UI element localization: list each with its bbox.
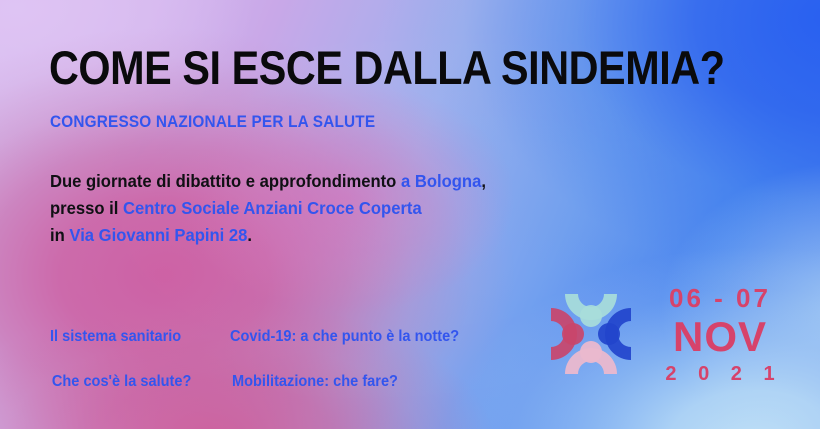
body-line-3-text: in: [50, 225, 69, 245]
topic-row: Il sistema sanitario Covid-19: a che pun…: [50, 328, 520, 373]
event-date-block: 06 - 07 NOV 2 0 2 1: [655, 283, 785, 386]
body-line-3: in Via Giovanni Papini 28.: [50, 222, 486, 249]
body-line-2-accent: Centro Sociale Anziani Croce Coperta: [123, 198, 422, 218]
event-date-month: NOV: [655, 314, 785, 360]
poster-body-copy: Due giornate di dibattito e approfondime…: [50, 168, 486, 249]
topic-item-sistema-sanitario[interactable]: Il sistema sanitario: [50, 328, 219, 346]
body-line-2-text: presso il: [50, 198, 123, 218]
topic-row: Che cos'è la salute? Mobilitazione: che …: [50, 373, 520, 418]
body-line-1: Due giornate di dibattito e approfondime…: [50, 168, 486, 195]
topic-list: Il sistema sanitario Covid-19: a che pun…: [50, 328, 520, 418]
topic-item-mobilitazione[interactable]: Mobilitazione: che fare?: [232, 373, 495, 391]
body-line-1-tail: ,: [481, 171, 486, 191]
body-line-1-text: Due giornate di dibattito e approfondime…: [50, 171, 401, 191]
topic-item-che-cose-la-salute[interactable]: Che cos'è la salute?: [50, 373, 221, 391]
poster-subheadline: CONGRESSO NAZIONALE PER LA SALUTE: [50, 112, 375, 132]
body-line-3-accent: Via Giovanni Papini 28: [69, 225, 247, 245]
event-date-year: 2 0 2 1: [655, 362, 785, 386]
topic-item-covid-19[interactable]: Covid-19: a che punto è la notte?: [230, 328, 493, 346]
event-poster: COME SI ESCE DALLA SINDEMIA? CONGRESSO N…: [0, 0, 820, 429]
poster-content: COME SI ESCE DALLA SINDEMIA? CONGRESSO N…: [0, 0, 820, 429]
poster-headline: COME SI ESCE DALLA SINDEMIA?: [49, 42, 725, 94]
four-figures-logo: [538, 281, 644, 387]
body-line-3-tail: .: [247, 225, 252, 245]
body-line-1-accent: a Bologna: [401, 171, 481, 191]
body-line-2: presso il Centro Sociale Anziani Croce C…: [50, 195, 486, 222]
event-date-days: 06 - 07: [655, 283, 785, 313]
